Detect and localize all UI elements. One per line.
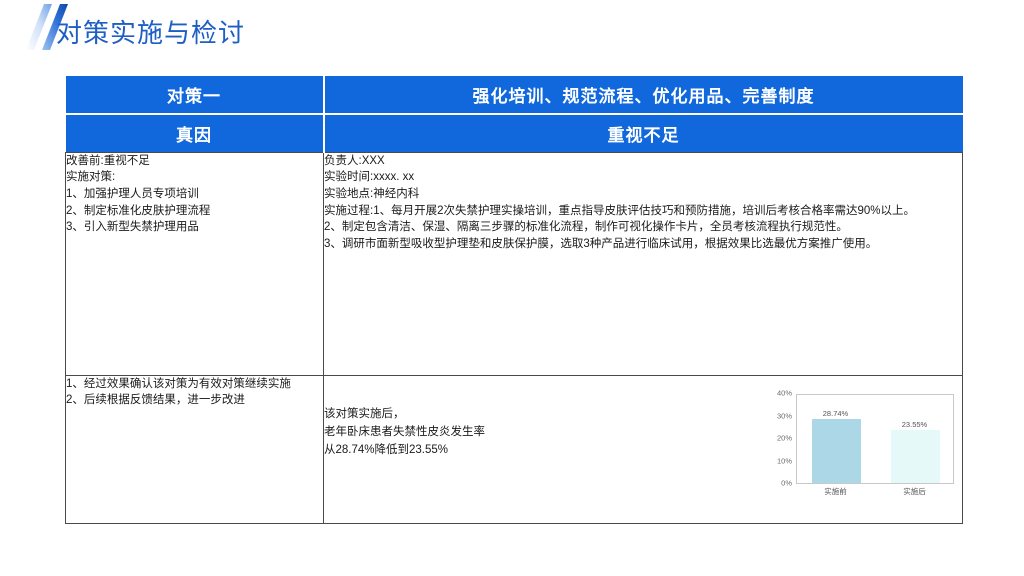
chart-y-axis: 0%10%20%30%40% — [764, 394, 794, 484]
chart-y-tick: 0% — [781, 479, 792, 490]
countermeasure-table: 对策一 强化培训、规范流程、优化用品、完善制度 真因 重视不足 改善前:重视不足… — [65, 76, 963, 524]
table-body-row-upper: 改善前:重视不足 实施对策: 1、加强护理人员专项培训 2、制定标准化皮肤护理流… — [66, 152, 963, 375]
table-body-row-lower: 1、经过效果确认该对策为有效对策继续实施 2、后续根据反馈结果，进一步改进 该对… — [66, 375, 963, 523]
cell-before-and-measures: 改善前:重视不足 实施对策: 1、加强护理人员专项培训 2、制定标准化皮肤护理流… — [66, 152, 324, 375]
chart-y-tick: 30% — [777, 411, 792, 422]
chart-y-tick: 10% — [777, 456, 792, 467]
header-value-countermeasure: 强化培训、规范流程、优化用品、完善制度 — [324, 76, 963, 114]
effect-summary-text: 该对策实施后， 老年卧床患者失禁性皮炎发生率 从28.74%降低到23.55% — [324, 392, 485, 459]
table-header-row-2: 真因 重视不足 — [66, 114, 963, 152]
chart-y-tick: 40% — [777, 389, 792, 400]
header-value-rootcause: 重视不足 — [324, 114, 963, 152]
cell-implementation-details: 负责人:XXX 实验时间:xxxx. xx 实验地点:神经内科 实施过程:1、每… — [324, 152, 963, 375]
chart-bar — [812, 419, 861, 484]
chart-x-tick: 实施前 — [801, 487, 870, 498]
page-title: 对策实施与检讨 — [56, 13, 245, 50]
header-label-countermeasure: 对策一 — [66, 76, 324, 114]
chart-x-tick: 实施后 — [880, 487, 949, 498]
chart-y-tick: 20% — [777, 434, 792, 445]
slide-header: 对策实施与检讨 — [0, 0, 1024, 62]
chart-bar-value-label: 28.74% — [803, 409, 868, 420]
chart-bar-value-label: 23.55% — [882, 420, 947, 431]
table-header-row-1: 对策一 强化培训、规范流程、优化用品、完善制度 — [66, 76, 963, 114]
cell-review-conclusion: 1、经过效果确认该对策为有效对策继续实施 2、后续根据反馈结果，进一步改进 — [66, 375, 324, 523]
header-label-rootcause: 真因 — [66, 114, 324, 152]
chart-bar — [891, 430, 940, 483]
cell-effect-with-chart: 该对策实施后， 老年卧床患者失禁性皮炎发生率 从28.74%降低到23.55% … — [324, 375, 963, 523]
effect-bar-chart: 0%10%20%30%40% 28.74%实施前23.55%实施后 — [764, 394, 960, 506]
